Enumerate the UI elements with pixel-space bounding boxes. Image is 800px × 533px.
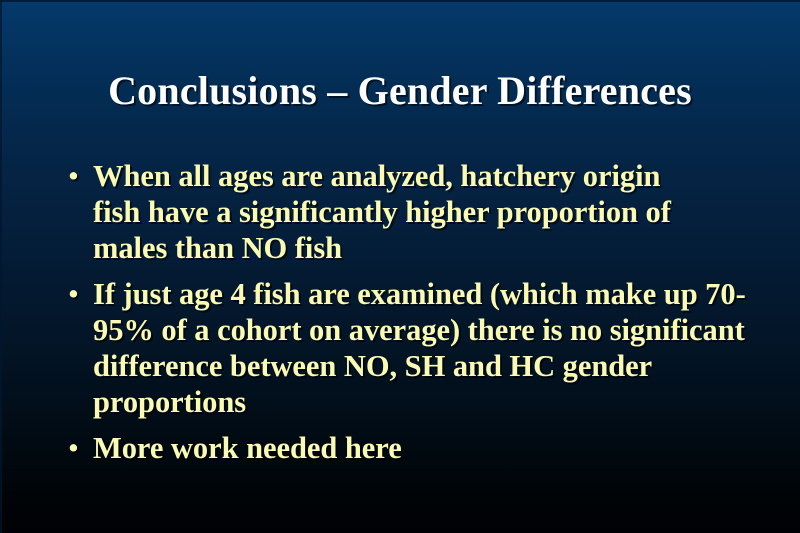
slide-title: Conclusions – Gender Differences (0, 68, 800, 114)
slide-bullet-list: • When all ages are analyzed, hatchery o… (64, 158, 754, 476)
bullet-dot-icon: • (64, 276, 93, 312)
presentation-slide: Conclusions – Gender Differences • When … (0, 0, 800, 533)
bullet-text: More work needed here (93, 430, 751, 466)
bullet-text: If just age 4 fish are examined (which m… (93, 276, 751, 420)
bullet-dot-icon: • (64, 430, 93, 466)
bullet-text: When all ages are analyzed, hatchery ori… (93, 158, 713, 266)
bullet-item: • When all ages are analyzed, hatchery o… (64, 158, 754, 266)
bullet-dot-icon: • (64, 158, 93, 194)
bullet-item: • More work needed here (64, 430, 754, 466)
slide-top-border (0, 0, 800, 2)
bullet-item: • If just age 4 fish are examined (which… (64, 276, 754, 420)
